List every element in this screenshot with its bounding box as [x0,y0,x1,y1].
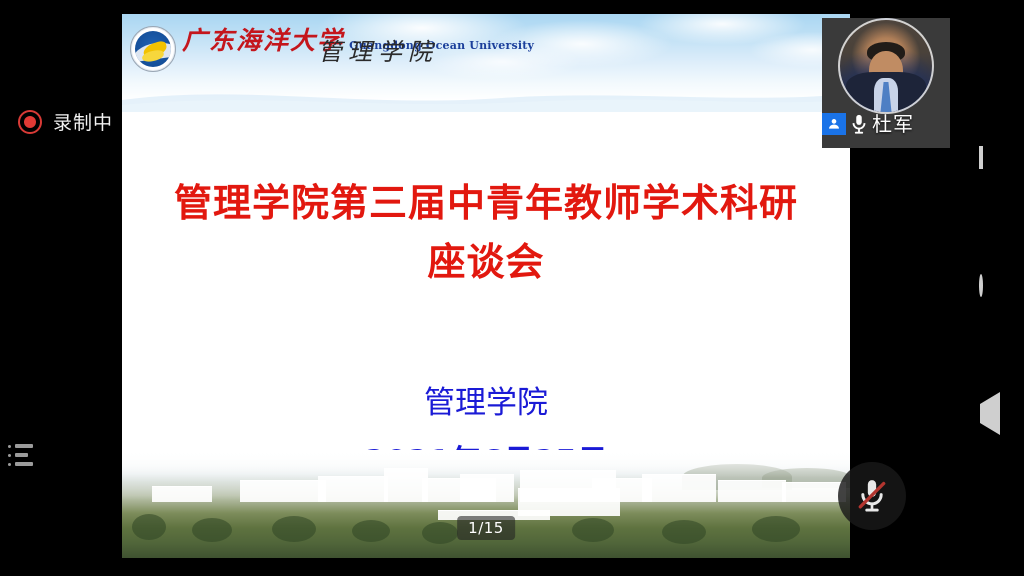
mute-toggle-button[interactable] [838,462,906,530]
participant-video-tile[interactable]: 杜军 [822,18,950,148]
university-seal-logo [130,26,176,72]
record-dot-icon [18,110,42,134]
slide-title-line-2: 座谈会 [152,233,820,292]
participant-footer: 杜军 [822,112,950,136]
college-name: 管理学院 [318,32,438,67]
recording-label: 录制中 [53,108,113,135]
participant-name: 杜军 [872,114,914,134]
microphone-muted-icon [852,476,892,516]
slide-title: 管理学院第三届中青年教师学术科研 座谈会 [152,174,820,292]
triangle-left-icon[interactable] [979,404,1005,430]
slide-subtitle-org: 管理学院 [122,374,850,433]
slide-banner: 广东海洋大学 Guangdong Ocean University 管理学院 [122,14,850,112]
recording-indicator: 录制中 [18,108,113,135]
android-navigation-bar [960,0,1024,576]
person-icon [822,113,846,135]
banner-wave-decoration [122,78,850,112]
square-icon[interactable] [979,148,1005,174]
slide-title-line-1: 管理学院第三届中青年教师学术科研 [152,174,820,233]
slide-page-counter: 1/15 [457,516,515,540]
microphone-icon [848,112,870,136]
circle-icon[interactable] [979,276,1005,302]
shared-slide[interactable]: 广东海洋大学 Guangdong Ocean University 管理学院 管… [122,14,850,558]
screen-root: 录制中 广东海洋大学 [0,0,1024,576]
participant-avatar [838,18,934,114]
campus-photo-footer [122,450,850,558]
participants-list-icon[interactable] [8,440,38,470]
